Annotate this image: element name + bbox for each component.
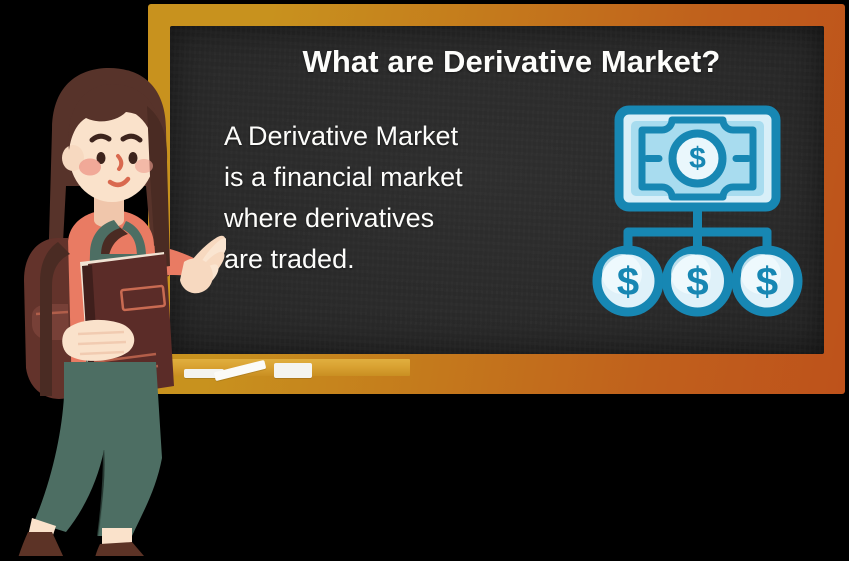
- svg-text:$: $: [686, 260, 708, 304]
- banknote-icon: $: [619, 110, 776, 207]
- chalk-piece: [274, 363, 312, 378]
- svg-text:$: $: [617, 260, 639, 304]
- connector-lines: [628, 209, 767, 247]
- shoe-left: [14, 532, 66, 556]
- blush-right: [135, 159, 153, 173]
- dollar-coin-icon: $: [667, 250, 729, 312]
- shoe-right: [93, 542, 150, 556]
- svg-text:$: $: [689, 142, 706, 175]
- chalkboard-frame: What are Derivative Market? A Derivative…: [148, 4, 845, 394]
- money-diagram-icon: $ $ $ $: [590, 104, 805, 319]
- eye-right: [129, 152, 138, 164]
- scene-root: What are Derivative Market? A Derivative…: [0, 0, 849, 559]
- board-title: What are Derivative Market?: [148, 44, 845, 80]
- blush-left: [79, 159, 101, 176]
- board-body-line: are traded.: [224, 239, 554, 280]
- student-character: [6, 66, 226, 556]
- hand-right: [180, 236, 226, 294]
- dollar-coin-icon: $: [736, 250, 798, 312]
- board-body-line: where derivatives: [224, 198, 554, 239]
- dollar-coin-icon: $: [597, 250, 659, 312]
- board-body-line: is a financial market: [224, 157, 554, 198]
- board-body-line: A Derivative Market: [224, 116, 554, 157]
- svg-text:$: $: [756, 260, 778, 304]
- board-body-text: A Derivative Market is a financial marke…: [224, 116, 554, 280]
